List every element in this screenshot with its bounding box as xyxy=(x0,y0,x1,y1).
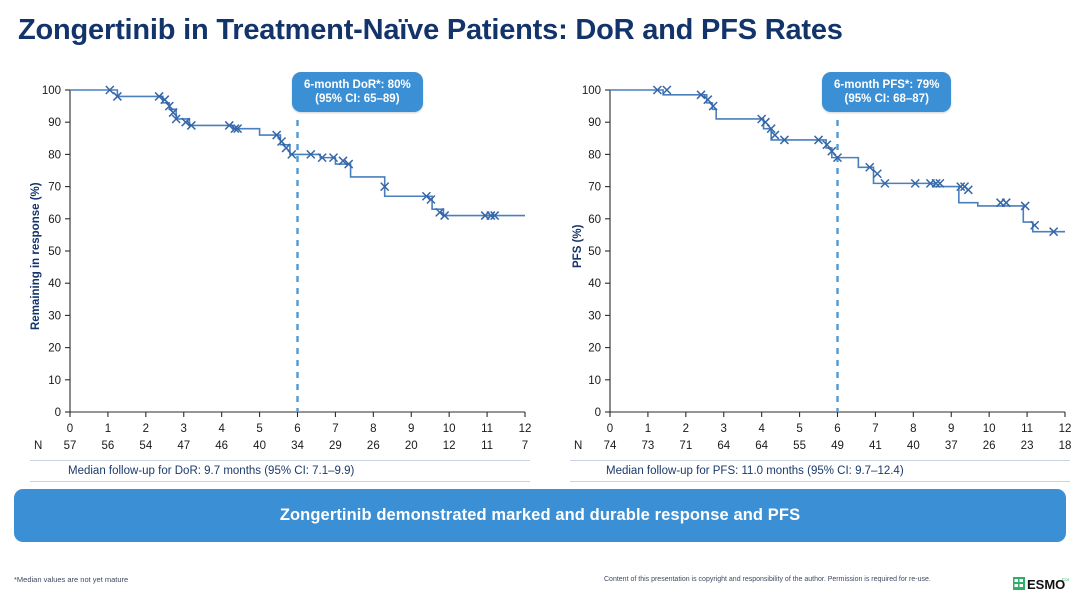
svg-text:40: 40 xyxy=(588,278,601,290)
svg-text:90: 90 xyxy=(588,117,601,129)
svg-text:5: 5 xyxy=(256,423,262,435)
dor-median-followup: Median follow-up for DoR: 9.7 months (95… xyxy=(68,465,354,477)
at-risk-value: 73 xyxy=(633,440,663,452)
at-risk-value: 40 xyxy=(898,440,928,452)
svg-text:7: 7 xyxy=(872,423,878,435)
svg-text:5: 5 xyxy=(796,423,802,435)
pfs-callout-line1: 6-month PFS*: 79% xyxy=(834,78,939,92)
svg-text:0: 0 xyxy=(55,407,61,419)
at-risk-value: 41 xyxy=(860,440,890,452)
svg-text:30: 30 xyxy=(588,310,601,322)
censor-mark xyxy=(1031,221,1039,229)
svg-text:50: 50 xyxy=(48,246,61,258)
pfs-divider-bottom xyxy=(570,481,1070,482)
svg-text:1: 1 xyxy=(105,423,111,435)
at-risk-value: 11 xyxy=(472,440,502,452)
conclusion-banner-text: Zongertinib demonstrated marked and dura… xyxy=(280,506,800,525)
svg-text:90: 90 xyxy=(48,117,61,129)
svg-text:0: 0 xyxy=(607,423,613,435)
svg-text:11: 11 xyxy=(481,423,493,435)
svg-text:100: 100 xyxy=(42,85,61,97)
svg-text:10: 10 xyxy=(983,423,996,435)
at-risk-value: 47 xyxy=(169,440,199,452)
at-risk-value: 46 xyxy=(207,440,237,452)
svg-text:70: 70 xyxy=(588,182,601,194)
pfs-median-followup: Median follow-up for PFS: 11.0 months (9… xyxy=(606,465,904,477)
pfs-chart-panel: 01020304050607080901000123456789101112 xyxy=(540,62,1080,482)
at-risk-value: 37 xyxy=(936,440,966,452)
at-risk-value: 23 xyxy=(1012,440,1042,452)
at-risk-value: 54 xyxy=(131,440,161,452)
footnote-text: *Median values are not yet mature xyxy=(14,575,128,584)
dor-callout-badge: 6-month DoR*: 80% (95% CI: 65–89) xyxy=(292,72,423,112)
pfs-km-plot: 01020304050607080901000123456789101112 xyxy=(540,62,1080,482)
at-risk-value: 55 xyxy=(785,440,815,452)
at-risk-value: 29 xyxy=(320,440,350,452)
dor-callout-line2: (95% CI: 65–89) xyxy=(304,92,411,106)
dor-divider-bottom xyxy=(30,481,530,482)
svg-text:10: 10 xyxy=(48,375,61,387)
pfs-y-axis-label: PFS (%) xyxy=(572,225,584,268)
svg-text:60: 60 xyxy=(48,214,61,226)
svg-text:12: 12 xyxy=(519,423,532,435)
conclusion-banner: Zongertinib demonstrated marked and dura… xyxy=(14,489,1066,542)
svg-text:6: 6 xyxy=(294,423,300,435)
svg-text:60: 60 xyxy=(588,214,601,226)
dor-chart-panel: 01020304050607080901000123456789101112 xyxy=(0,62,540,482)
svg-text:100: 100 xyxy=(582,85,601,97)
svg-text:30: 30 xyxy=(48,310,61,322)
at-risk-value: 12 xyxy=(434,440,464,452)
svg-text:4: 4 xyxy=(758,423,765,435)
at-risk-value: 34 xyxy=(283,440,313,452)
svg-text:70: 70 xyxy=(48,182,61,194)
pfs-callout-line2: (95% CI: 68–87) xyxy=(834,92,939,106)
at-risk-value: 20 xyxy=(396,440,426,452)
svg-text:10: 10 xyxy=(588,375,601,387)
svg-text:9: 9 xyxy=(408,423,414,435)
at-risk-value: 64 xyxy=(747,440,777,452)
pfs-at-risk-label: N xyxy=(574,440,582,452)
svg-text:10: 10 xyxy=(443,423,456,435)
at-risk-value: 64 xyxy=(709,440,739,452)
svg-text:Congress: Congress xyxy=(1062,577,1069,582)
svg-text:80: 80 xyxy=(48,149,61,161)
svg-text:12: 12 xyxy=(1059,423,1072,435)
svg-text:20: 20 xyxy=(588,343,601,355)
svg-text:ESMO: ESMO xyxy=(1027,577,1065,592)
svg-text:0: 0 xyxy=(67,423,73,435)
dor-km-plot: 01020304050607080901000123456789101112 xyxy=(0,62,540,482)
svg-text:50: 50 xyxy=(588,246,601,258)
at-risk-value: 7 xyxy=(510,440,540,452)
dor-at-risk-label: N xyxy=(34,440,42,452)
dor-callout-line1: 6-month DoR*: 80% xyxy=(304,78,411,92)
svg-text:4: 4 xyxy=(218,423,225,435)
at-risk-value: 74 xyxy=(595,440,625,452)
dor-divider-top xyxy=(30,460,530,461)
at-risk-value: 26 xyxy=(358,440,388,452)
at-risk-value: 40 xyxy=(245,440,275,452)
dor-y-axis-label: Remaining in response (%) xyxy=(30,182,42,330)
svg-text:20: 20 xyxy=(48,343,61,355)
pfs-callout-badge: 6-month PFS*: 79% (95% CI: 68–87) xyxy=(822,72,951,112)
svg-text:6: 6 xyxy=(834,423,840,435)
svg-text:40: 40 xyxy=(48,278,61,290)
at-risk-value: 18 xyxy=(1050,440,1080,452)
svg-text:8: 8 xyxy=(370,423,376,435)
svg-text:8: 8 xyxy=(910,423,916,435)
svg-text:3: 3 xyxy=(181,423,187,435)
at-risk-value: 49 xyxy=(823,440,853,452)
svg-text:0: 0 xyxy=(595,407,601,419)
slide-root: Zongertinib in Treatment-Naïve Patients:… xyxy=(0,0,1080,602)
at-risk-value: 57 xyxy=(55,440,85,452)
copyright-text: Content of this presentation is copyrigh… xyxy=(604,576,931,583)
at-risk-value: 71 xyxy=(671,440,701,452)
at-risk-value: 26 xyxy=(974,440,1004,452)
pfs-divider-top xyxy=(570,460,1070,461)
censor-mark xyxy=(873,170,881,178)
svg-text:7: 7 xyxy=(332,423,338,435)
svg-text:11: 11 xyxy=(1021,423,1033,435)
at-risk-value: 56 xyxy=(93,440,123,452)
censor-mark xyxy=(663,86,671,94)
censor-mark xyxy=(964,186,972,194)
svg-text:2: 2 xyxy=(683,423,689,435)
svg-text:3: 3 xyxy=(721,423,727,435)
svg-text:1: 1 xyxy=(645,423,651,435)
page-title: Zongertinib in Treatment-Naïve Patients:… xyxy=(18,14,843,47)
svg-text:2: 2 xyxy=(143,423,149,435)
svg-text:9: 9 xyxy=(948,423,954,435)
svg-text:80: 80 xyxy=(588,149,601,161)
esmo-logo: ESMO Congress xyxy=(1013,574,1069,594)
